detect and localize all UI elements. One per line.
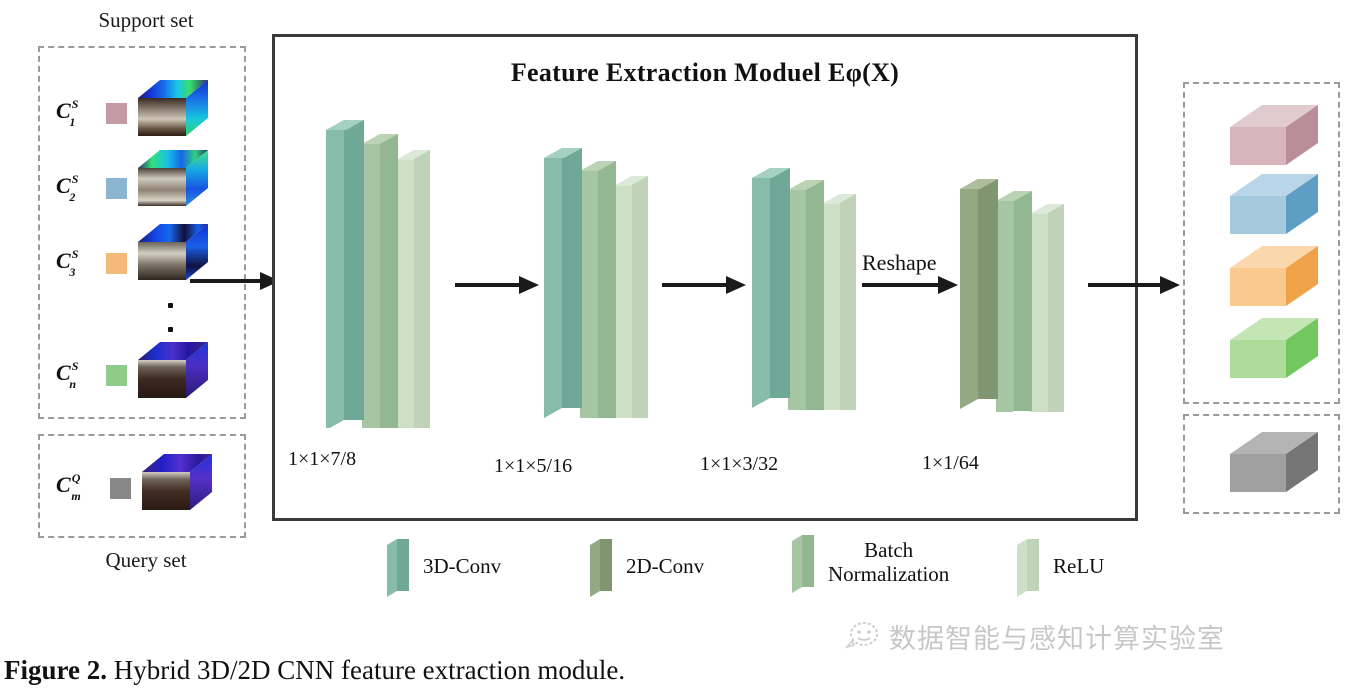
output-bar-class-3	[1228, 244, 1320, 310]
output-bar-query	[1228, 430, 1320, 496]
conv-block-2-label: 1×1×5/16	[494, 455, 572, 478]
watermark-text: 数据智能与感知计算实验室	[889, 617, 1225, 656]
query-item-symbol: C	[56, 472, 71, 497]
query-item-label: CQm	[56, 472, 89, 501]
watermark-icon	[845, 619, 879, 654]
legend-item-relu: ReLU	[1015, 537, 1104, 597]
arrow-block2-to-block3	[662, 274, 746, 296]
conv-block-4-label: 1×1/64	[922, 452, 979, 475]
watermark: 数据智能与感知计算实验室	[845, 617, 1225, 656]
support-item-n-label: CSn	[56, 360, 84, 389]
figure-caption-prefix: Figure 2.	[4, 655, 107, 685]
support-item-3-sub: 3	[69, 265, 75, 279]
query-set-caption: Query set	[46, 548, 246, 573]
output-bar-class-1	[1228, 103, 1320, 169]
arrow-block1-to-block2	[455, 274, 539, 296]
output-bar-class-2	[1228, 172, 1320, 238]
figure-2-hybrid-cnn-diagram: Support set CS1	[0, 0, 1353, 696]
support-item-1-label: CS1	[56, 98, 83, 127]
conv-block-2	[536, 138, 676, 418]
support-item-2-label: CS2	[56, 173, 83, 202]
legend-swatch-2d-conv	[588, 537, 614, 597]
conv-block-1-label: 1×1×7/8	[288, 448, 356, 471]
support-item-1-swatch	[106, 103, 127, 124]
support-item-1-super: S	[72, 97, 79, 111]
support-set-caption: Support set	[46, 8, 246, 33]
legend-swatch-3d-conv	[385, 537, 411, 597]
query-item-cube	[140, 452, 214, 514]
support-item-n-cube	[136, 340, 210, 402]
output-bar-class-4	[1228, 316, 1320, 382]
arrow-block3-to-block4	[862, 274, 958, 296]
support-item-n-swatch	[106, 365, 127, 386]
conv-block-4	[952, 172, 1092, 412]
support-item-2-swatch	[106, 178, 127, 199]
support-item-n-super: S	[72, 359, 79, 373]
support-item-2-sub: 2	[69, 190, 75, 204]
legend-label-batch-normalization: Batch Normalization	[828, 539, 949, 586]
reshape-label: Reshape	[862, 250, 937, 276]
legend: 3D-Conv 2D-Conv Batch Normalization	[385, 533, 1145, 601]
figure-caption: Figure 2. Hybrid 3D/2D CNN feature extra…	[4, 655, 625, 686]
legend-item-3d-conv: 3D-Conv	[385, 537, 501, 597]
legend-item-2d-conv: 2D-Conv	[588, 537, 704, 597]
support-ellipsis-dot-1	[168, 303, 173, 308]
legend-item-batch-normalization: Batch Normalization	[790, 533, 949, 593]
legend-swatch-batch-normalization	[790, 533, 816, 593]
support-item-2-cube	[136, 148, 210, 210]
input-arrow	[190, 270, 280, 292]
figure-caption-text: Hybrid 3D/2D CNN feature extraction modu…	[107, 655, 625, 685]
query-item-sub: m	[71, 489, 80, 503]
legend-label-3d-conv: 3D-Conv	[423, 555, 501, 579]
conv-block-1	[318, 108, 458, 428]
support-item-1-sub: 1	[69, 115, 75, 129]
conv-block-3-label: 1×1×3/32	[700, 453, 778, 476]
support-item-3-label: CS3	[56, 248, 83, 277]
output-arrow	[1088, 274, 1180, 296]
support-item-n-sub: n	[69, 377, 76, 391]
support-ellipsis-dot-2	[168, 327, 173, 332]
query-item-swatch	[110, 478, 131, 499]
query-item-super: Q	[72, 471, 81, 485]
support-item-1-cube	[136, 78, 210, 140]
support-item-3-super: S	[72, 247, 79, 261]
module-title: Feature Extraction Moduel Eφ(X)	[272, 58, 1138, 88]
legend-label-relu: ReLU	[1053, 555, 1104, 579]
legend-swatch-relu	[1015, 537, 1041, 597]
support-item-2-super: S	[72, 172, 79, 186]
support-item-3-swatch	[106, 253, 127, 274]
legend-label-2d-conv: 2D-Conv	[626, 555, 704, 579]
